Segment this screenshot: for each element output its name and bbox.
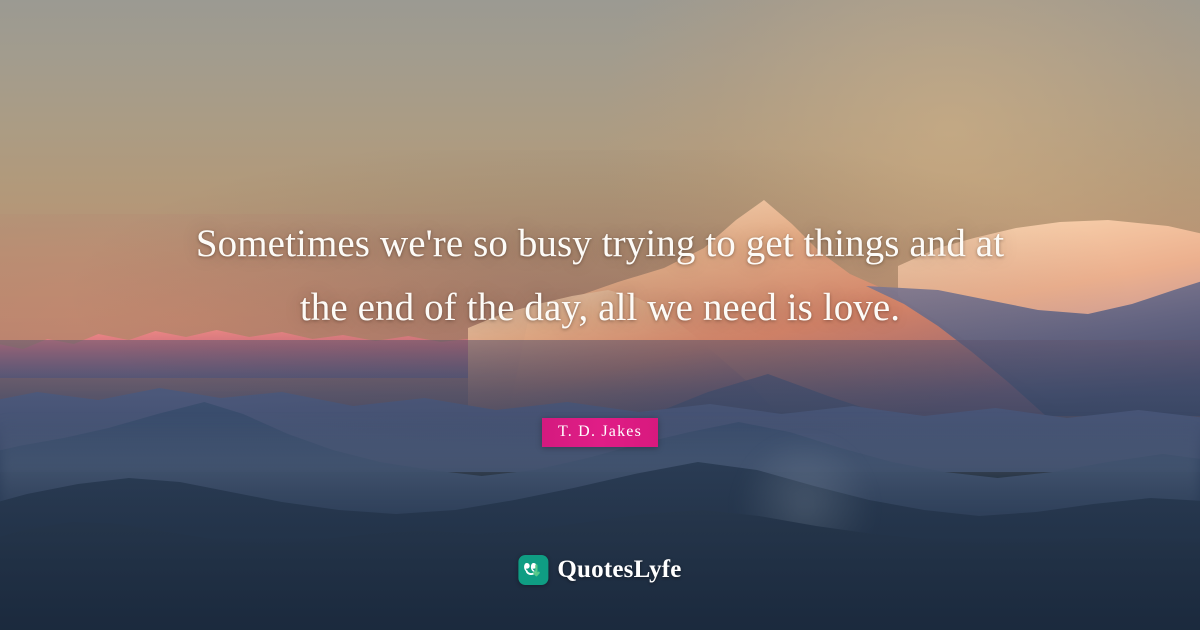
card-content: Sometimes we're so busy trying to get th… [0,0,1200,630]
author-badge[interactable]: T. D. Jakes [542,418,658,447]
quote-text: Sometimes we're so busy trying to get th… [190,212,1010,341]
brand-name: QuotesLyfe [557,556,681,584]
brand-logo[interactable]: QuotesLyfe [518,555,681,585]
quote-mark-icon [518,555,548,585]
quote-card: Sometimes we're so busy trying to get th… [0,0,1200,630]
